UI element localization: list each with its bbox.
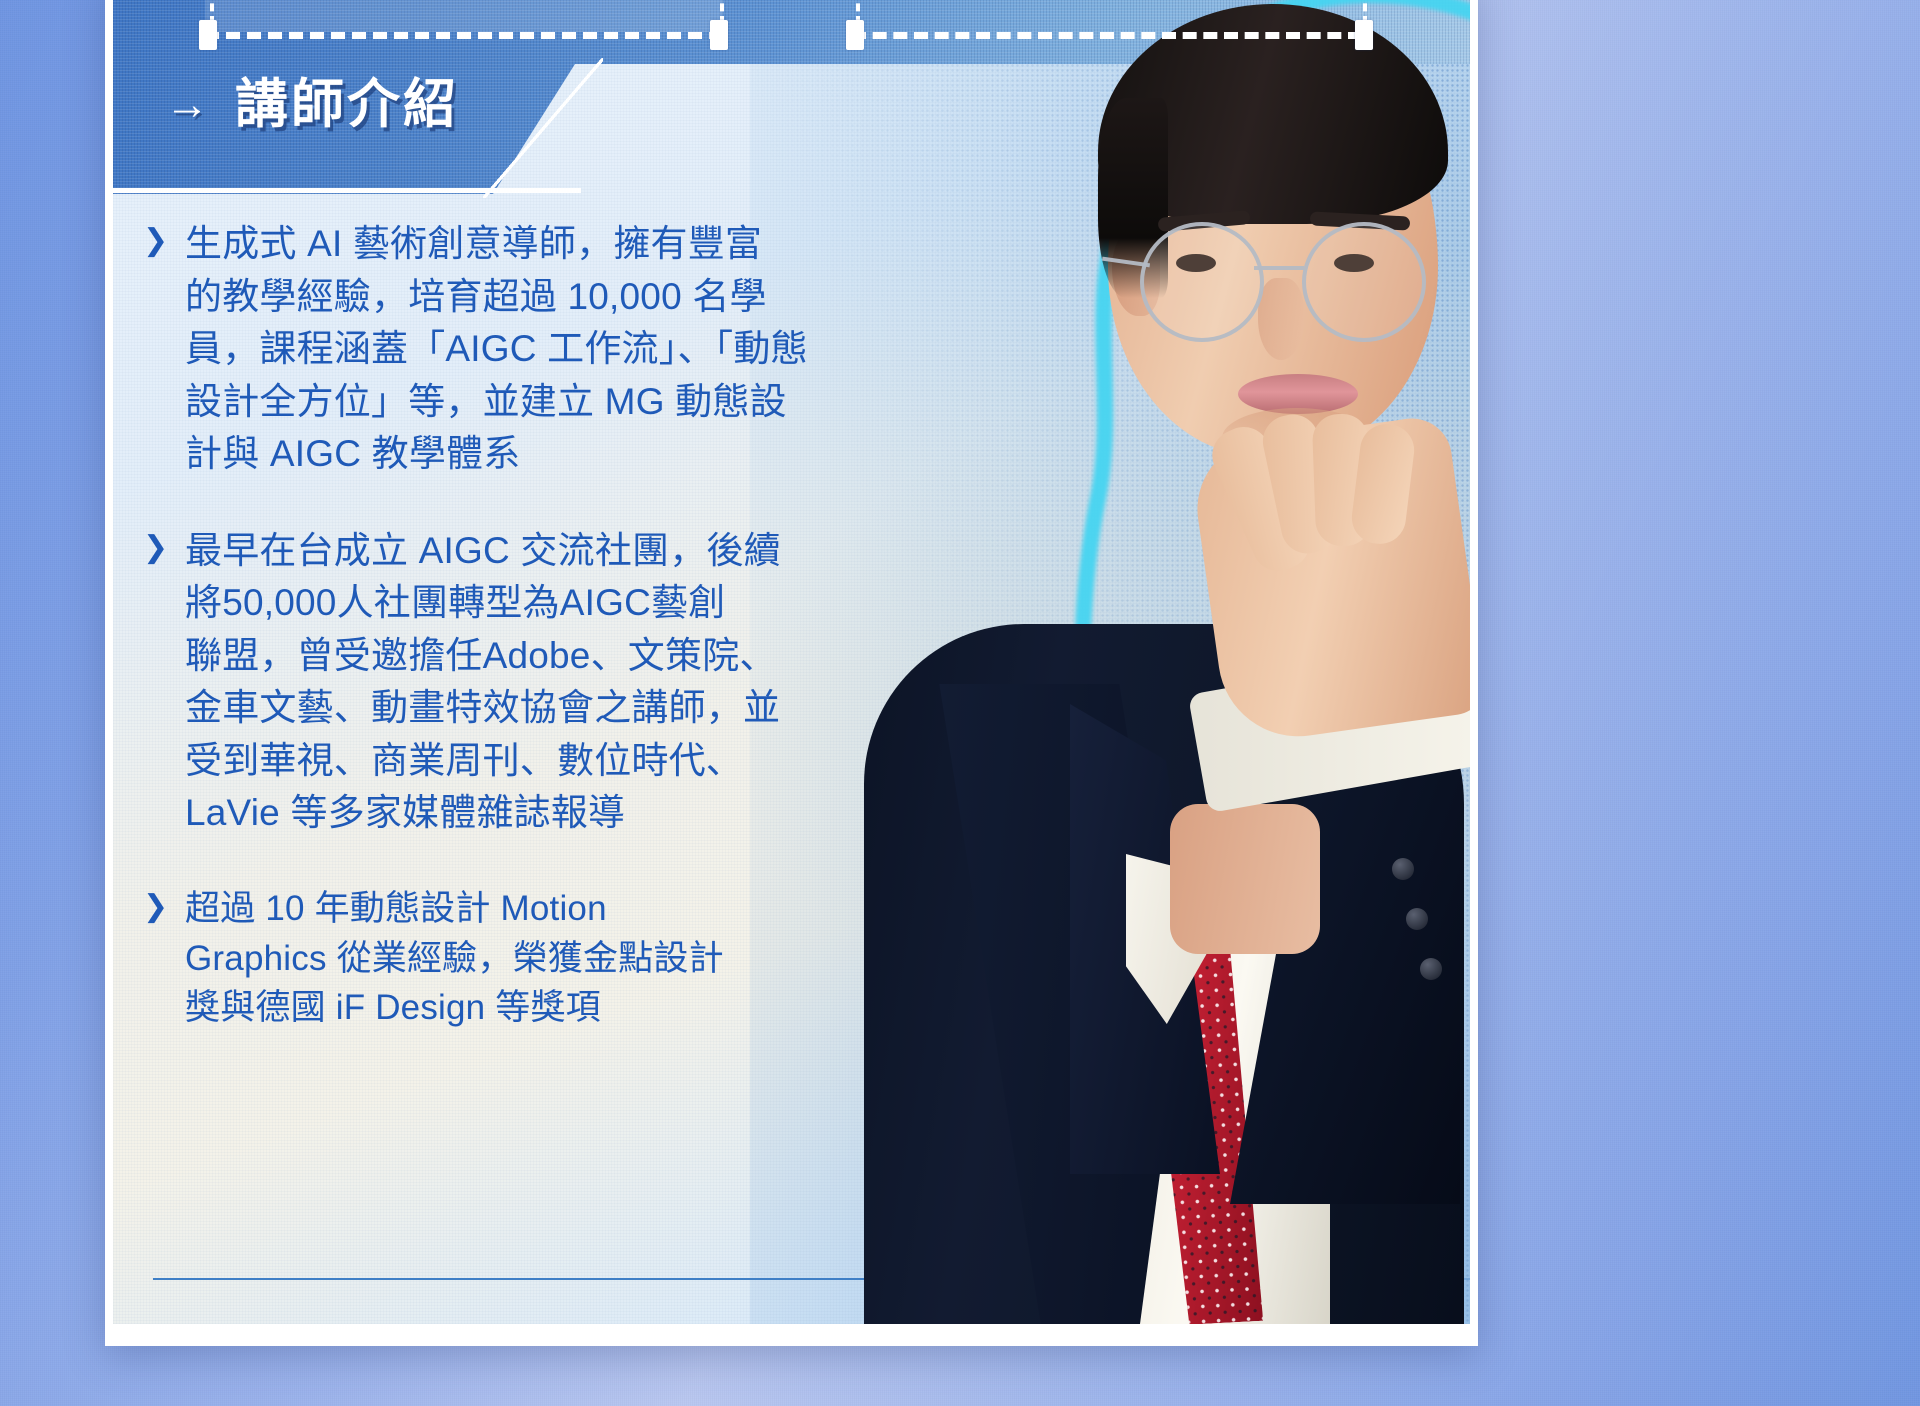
nose [1258, 278, 1304, 360]
header-diagonal-accent [483, 58, 603, 198]
header-underline [113, 188, 581, 193]
list-item: ❯ 最早在台成立 AIGC 交流社團，後續 將50,000人社團轉型為AIGC藝… [143, 525, 903, 840]
eyeglasses-bridge [1254, 266, 1304, 270]
chevron-bullet-icon: ❯ [143, 220, 169, 263]
eyeglasses-lens-left [1140, 222, 1264, 342]
jacket-button [1406, 908, 1428, 930]
selection-handle[interactable] [1355, 20, 1373, 50]
list-item-text: 生成式 AI 藝術創意導師，擁有豐富 的教學經驗，培育超過 10,000 名學 … [185, 218, 903, 481]
slide-card[interactable]: → 講師介紹 ❯ 生成式 AI 藝術創意導師，擁有豐富 的教學經驗，培育超過 1… [105, 0, 1478, 1346]
chevron-bullet-icon: ❯ [143, 886, 169, 929]
page-title: → 講師介紹 [165, 78, 459, 131]
selection-handle[interactable] [846, 20, 864, 50]
jacket-button [1392, 858, 1414, 880]
list-item: ❯ 超過 10 年動態設計 Motion Graphics 從業經驗，榮獲金點設… [143, 884, 903, 1033]
page-title-text: 講師介紹 [235, 78, 459, 131]
list-item-text: 超過 10 年動態設計 Motion Graphics 從業經驗，榮獲金點設計 … [185, 884, 903, 1033]
chevron-bullet-icon: ❯ [143, 527, 169, 570]
eyeglasses-lens-right [1302, 222, 1426, 342]
list-item: ❯ 生成式 AI 藝術創意導師，擁有豐富 的教學經驗，培育超過 10,000 名… [143, 218, 903, 481]
selection-handle[interactable] [199, 20, 217, 50]
instructor-portrait [840, 0, 1470, 1324]
arrow-right-icon: → [165, 83, 209, 127]
selection-handle[interactable] [710, 20, 728, 50]
bullet-list: ❯ 生成式 AI 藝術創意導師，擁有豐富 的教學經驗，培育超過 10,000 名… [143, 218, 903, 1033]
neck [1170, 804, 1320, 954]
slide-content: → 講師介紹 ❯ 生成式 AI 藝術創意導師，擁有豐富 的教學經驗，培育超過 1… [113, 0, 1470, 1324]
list-item-text: 最早在台成立 AIGC 交流社團，後續 將50,000人社團轉型為AIGC藝創 … [185, 525, 903, 840]
editor-canvas: → 講師介紹 ❯ 生成式 AI 藝術創意導師，擁有豐富 的教學經驗，培育超過 1… [0, 0, 1920, 1406]
jacket-button [1420, 958, 1442, 980]
